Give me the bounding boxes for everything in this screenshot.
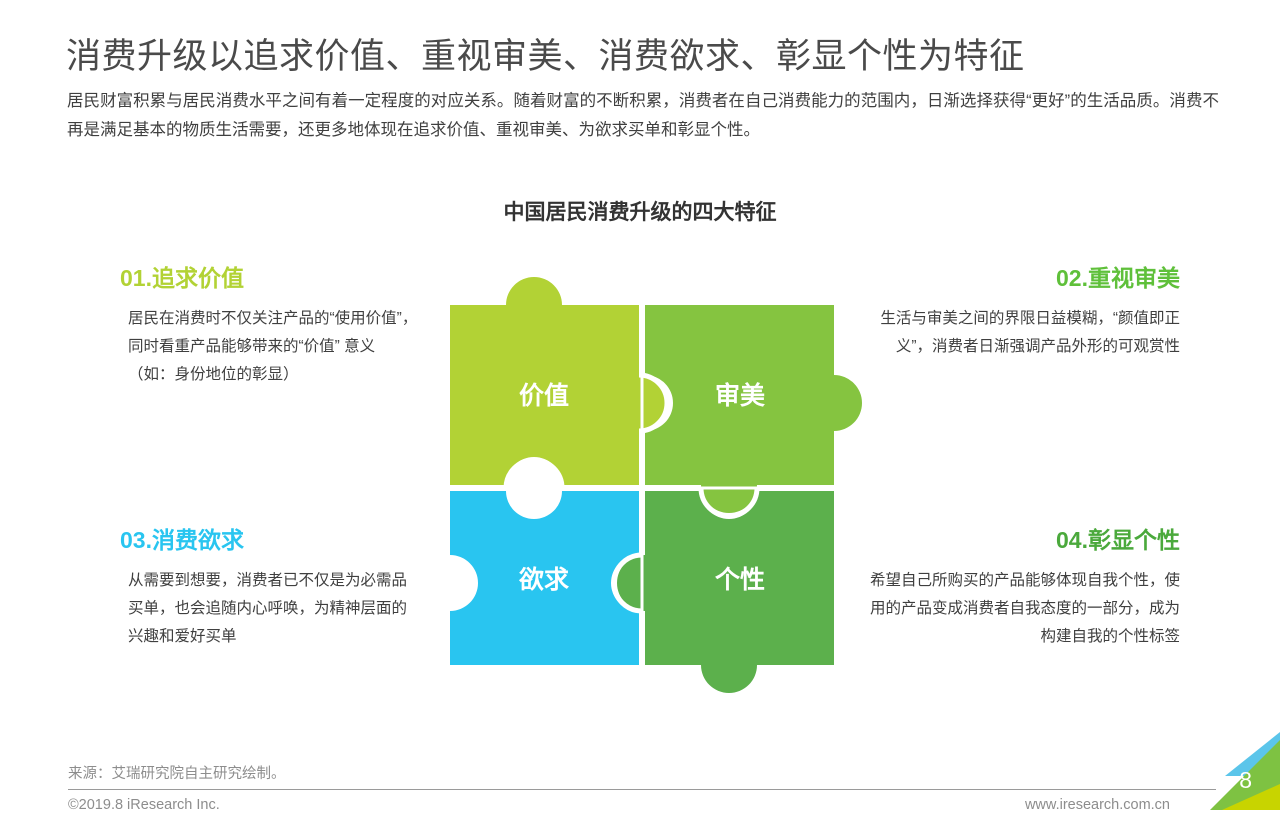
puzzle-piece-value <box>450 277 667 485</box>
feature-block-03: 03.消费欲求 从需要到想要，消费者已不仅是为必需品买单，也会追随内心呼唤，为精… <box>120 528 420 651</box>
page-number: 8 <box>1239 767 1252 794</box>
puzzle-label-personality: 个性 <box>715 566 765 594</box>
feature-body-04: 希望自己所购买的产品能够体现自我个性，使用的产品变成消费者自我态度的一部分，成为… <box>860 567 1180 651</box>
diagram-title: 中国居民消费升级的四大特征 <box>0 196 1280 226</box>
feature-body-02: 生活与审美之间的界限日益模糊，“颜值即正义”，消费者日渐强调产品外形的可观赏性 <box>860 305 1180 361</box>
page-title: 消费升级以追求价值、重视审美、消费欲求、彰显个性为特征 <box>66 31 1226 83</box>
lead-paragraph: 居民财富积累与居民消费水平之间有着一定程度的对应关系。随着财富的不断积累，消费者… <box>67 87 1219 145</box>
feature-block-01: 01.追求价值 居民在消费时不仅关注产品的“使用价值”，同时看重产品能够带来的“… <box>120 266 420 389</box>
feature-block-02: 02.重视审美 生活与审美之间的界限日益模糊，“颜值即正义”，消费者日渐强调产品… <box>860 266 1180 361</box>
corner-decoration <box>1170 732 1280 810</box>
website-url: www.iresearch.com.cn <box>1025 797 1170 813</box>
feature-body-03: 从需要到想要，消费者已不仅是为必需品买单，也会追随内心呼唤，为精神层面的兴趣和爱… <box>120 567 420 651</box>
copyright-text: ©2019.8 iResearch Inc. <box>68 797 220 813</box>
feature-heading-03: 03.消费欲求 <box>120 528 420 553</box>
feature-block-04: 04.彰显个性 希望自己所购买的产品能够体现自我个性，使用的产品变成消费者自我态… <box>860 528 1180 651</box>
puzzle-label-value: 价值 <box>519 382 569 410</box>
source-note: 来源：艾瑞研究院自主研究绘制。 <box>68 762 286 783</box>
jigsaw-diagram: 价值 审美 欲求 个性 <box>410 250 870 700</box>
feature-heading-04: 04.彰显个性 <box>860 528 1180 553</box>
feature-heading-02: 02.重视审美 <box>860 266 1180 291</box>
footer-divider <box>68 789 1216 790</box>
feature-body-01: 居民在消费时不仅关注产品的“使用价值”，同时看重产品能够带来的“价值” 意义（如… <box>120 305 420 389</box>
puzzle-label-aesthetic: 审美 <box>715 381 765 410</box>
puzzle-label-desire: 欲求 <box>518 566 569 594</box>
feature-heading-01: 01.追求价值 <box>120 266 420 291</box>
slide: 消费升级以追求价值、重视审美、消费欲求、彰显个性为特征 居民财富积累与居民消费水… <box>0 0 1280 810</box>
